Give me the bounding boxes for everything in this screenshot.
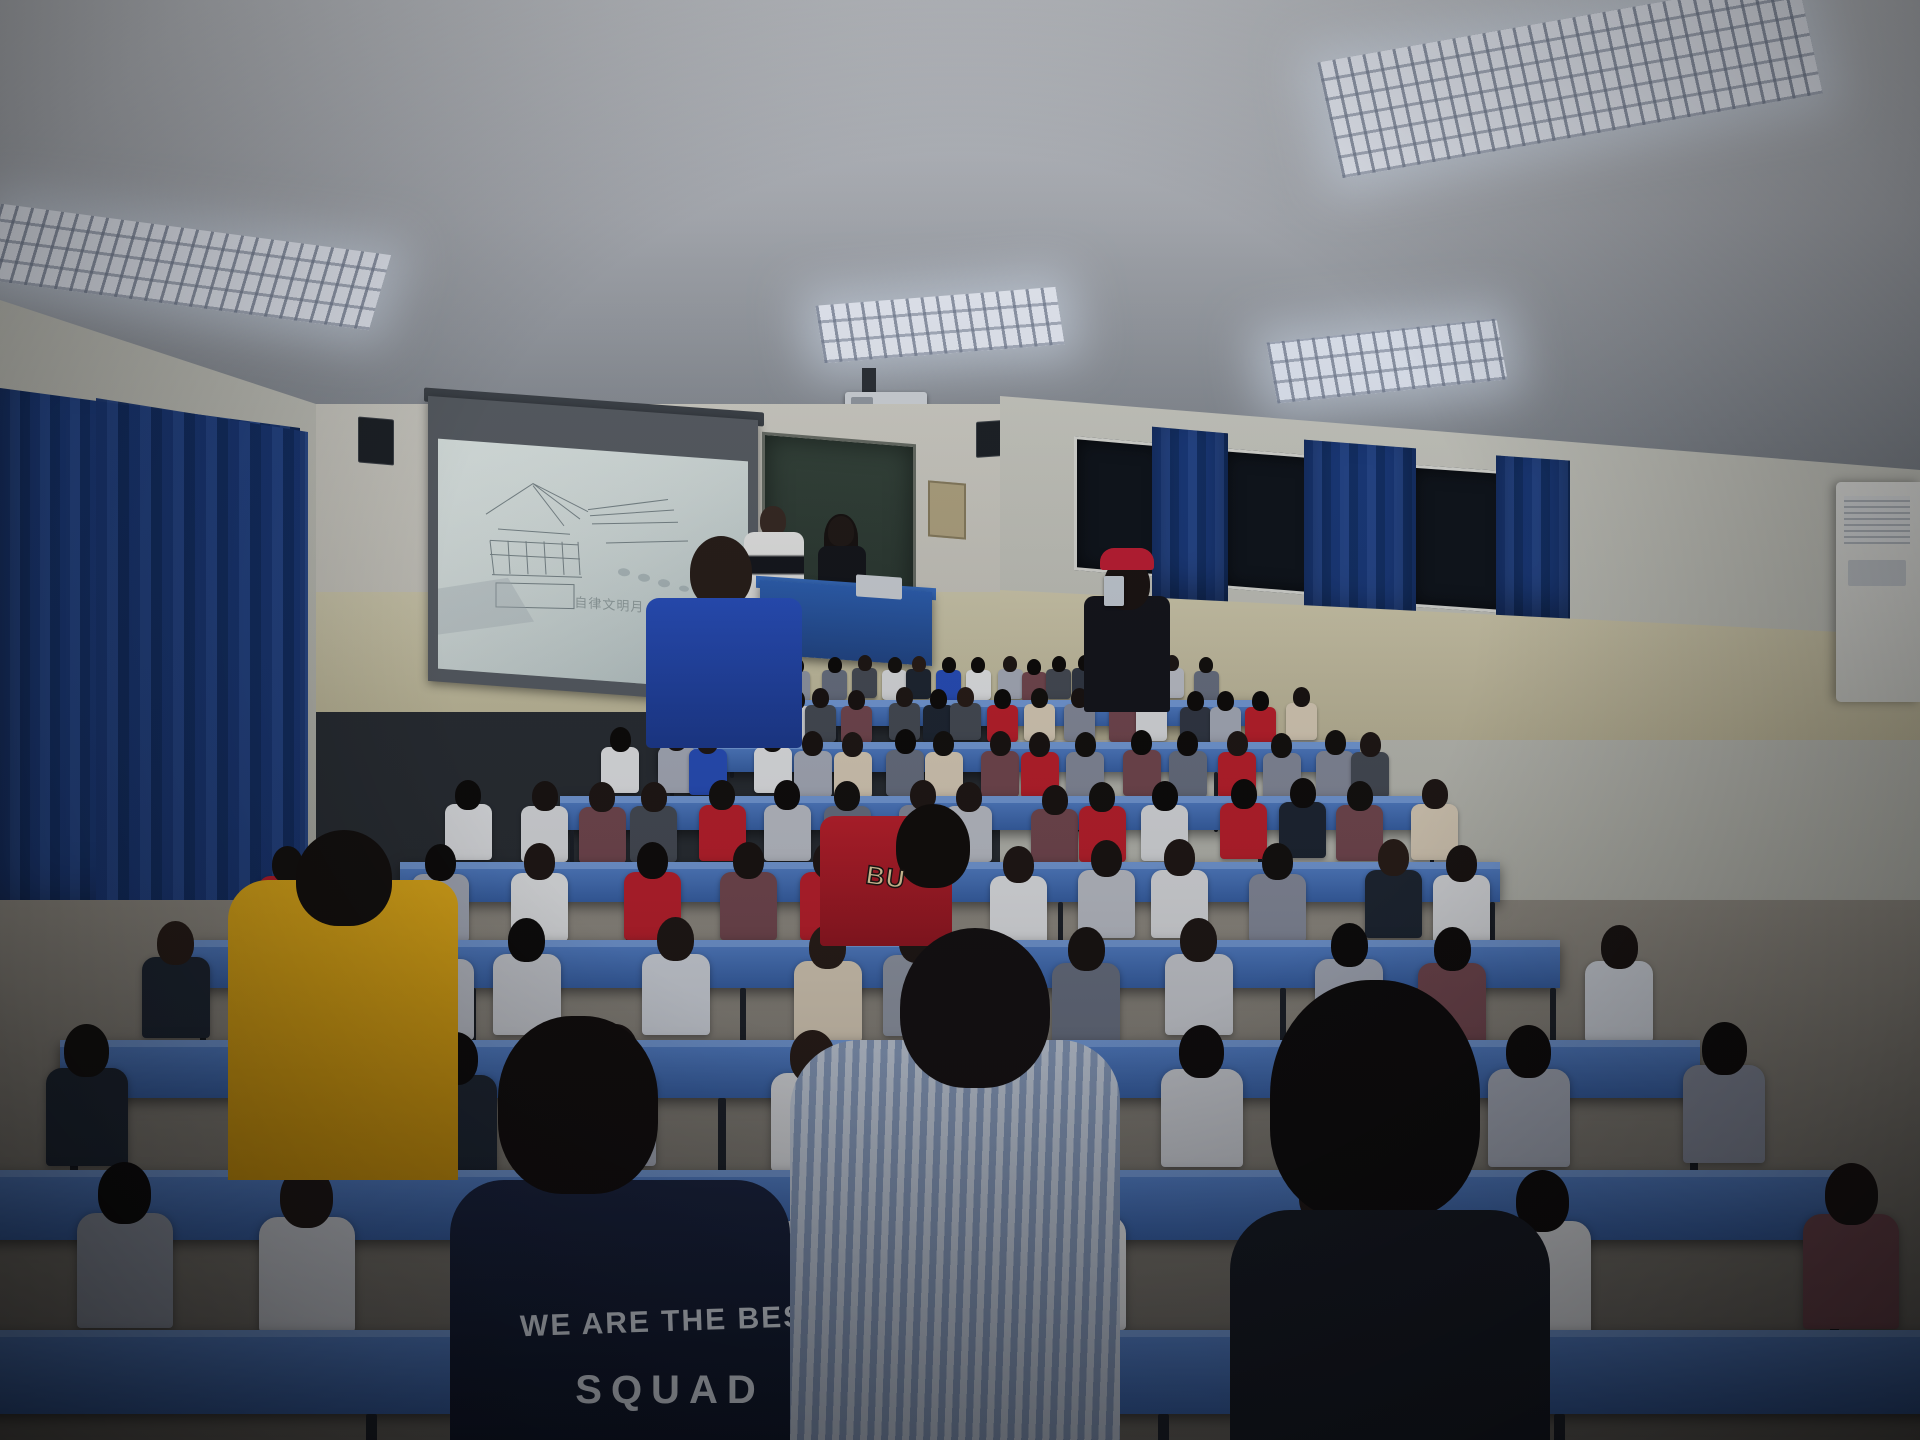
audience-member-head — [942, 657, 956, 673]
audience-member-body — [259, 1217, 355, 1332]
standing-student-blue-tee — [646, 598, 802, 748]
audience-member-head — [733, 842, 764, 879]
audience-member-head — [98, 1162, 151, 1224]
audience-member-head — [956, 782, 982, 812]
audience-member-head — [1331, 923, 1368, 967]
audience-member-head — [641, 782, 667, 812]
audience-member-head — [455, 780, 481, 810]
audience-member-body — [1286, 703, 1317, 740]
audience-member-head — [157, 921, 194, 965]
right-wall-curtain-1 — [1152, 427, 1228, 612]
audience-member-body — [46, 1068, 128, 1166]
audience-member-head — [1231, 779, 1257, 809]
audience-member-head — [930, 689, 947, 709]
audience-member-body — [642, 954, 710, 1035]
audience-member-head — [895, 729, 916, 754]
audience-member-head — [1031, 688, 1048, 708]
audience-member-head — [1702, 1022, 1747, 1075]
audience-member-head — [637, 842, 668, 879]
audience-member-head — [912, 656, 926, 672]
student-red-cap-photographer-body — [1084, 596, 1170, 712]
audience-member-body — [950, 703, 981, 740]
audience-member-head — [1271, 733, 1292, 758]
audience-member-head — [1177, 731, 1198, 756]
audience-member-body — [1245, 707, 1276, 744]
audience-member-body — [1585, 961, 1653, 1042]
audience-member-head — [1434, 927, 1471, 971]
right-wall-curtain-3 — [1496, 455, 1570, 626]
audience-member-body — [77, 1213, 173, 1328]
audience-member-body — [142, 957, 210, 1038]
lectern-paper — [856, 574, 902, 599]
audience-member-head — [834, 781, 860, 811]
audience-member-head — [957, 687, 974, 707]
audience-member-head — [896, 687, 913, 707]
audience-member-body — [1803, 1214, 1899, 1329]
audience-member-body — [764, 805, 811, 861]
audience-member-head — [1179, 1025, 1224, 1078]
wall-speaker-left — [358, 416, 394, 465]
audience-member-head — [971, 657, 985, 673]
audience-member-head — [1217, 691, 1234, 711]
audience-member-body — [1161, 1069, 1243, 1167]
audience-member-head — [508, 918, 545, 962]
audience-member-head — [848, 690, 865, 710]
audience-member-body — [1336, 805, 1383, 861]
audience-member-head — [1360, 732, 1381, 757]
audience-member-head — [1003, 656, 1017, 672]
red-cap-icon — [1100, 548, 1154, 570]
desk-leg — [366, 1414, 377, 1440]
audience-member-head — [1187, 691, 1204, 711]
audience-member-head — [1091, 840, 1122, 877]
audience-member-body — [1365, 870, 1422, 938]
audience-member-body — [794, 961, 862, 1042]
audience-member-head — [1152, 781, 1178, 811]
audience-member-body — [1249, 874, 1306, 942]
audience-member-body — [720, 872, 777, 940]
audience-member-head — [1227, 731, 1248, 756]
audience-member-head — [1825, 1163, 1878, 1225]
foreground-student-right-body — [1230, 1210, 1550, 1440]
audience-member-head — [802, 731, 823, 756]
audience-member-head — [1075, 732, 1096, 757]
audience-member-head — [828, 657, 842, 673]
audience-member-head — [858, 655, 872, 671]
desk-leg — [1554, 1414, 1565, 1440]
audience-member-head — [1293, 687, 1310, 707]
desk-leg — [1158, 1414, 1169, 1440]
audience-member-body — [1052, 963, 1120, 1044]
student-red-jersey-head — [896, 804, 970, 888]
audience-member-head — [1378, 839, 1409, 876]
audience-member-head — [1027, 659, 1041, 675]
audience-member-head — [1290, 778, 1316, 808]
audience-member-head — [1601, 925, 1638, 969]
audience-member-head — [64, 1024, 109, 1077]
window-3 — [1410, 465, 1510, 614]
audience-member-head — [709, 780, 735, 810]
audience-member-head — [524, 843, 555, 880]
presenter-dark-jacket-head — [828, 516, 854, 546]
audience-member-head — [610, 727, 631, 752]
audience-member-head — [1252, 691, 1269, 711]
audience-member-body — [1046, 669, 1071, 699]
audience-member-head — [1052, 656, 1066, 672]
audience-member-head — [532, 781, 558, 811]
audience-member-head — [1089, 782, 1115, 812]
student-striped-shirt-head — [900, 928, 1050, 1088]
audience-member-head — [1131, 730, 1152, 755]
lecture-hall-photo: 自律文明月 BU WE ARE THE BES — [0, 0, 1920, 1440]
student-striped-shirt — [790, 1040, 1120, 1440]
audience-member-head — [842, 732, 863, 757]
audience-member-head — [812, 688, 829, 708]
air-conditioner-unit — [1836, 482, 1920, 702]
audience-member-body — [1220, 803, 1267, 859]
audience-member-head — [1068, 927, 1105, 971]
audience-member-head — [1042, 785, 1068, 815]
audience-member-head — [1003, 846, 1034, 883]
right-wall-curtain-2 — [1304, 440, 1416, 635]
audience-member-head — [1180, 918, 1217, 962]
audience-member-head — [933, 731, 954, 756]
audience-member-body — [1683, 1065, 1765, 1163]
foreground-student-right-head — [1270, 980, 1480, 1220]
audience-member-head — [1262, 843, 1293, 880]
audience-member-head — [1325, 730, 1346, 755]
projector-mount — [862, 368, 876, 394]
audience-member-head — [888, 657, 902, 673]
audience-member-head — [425, 844, 456, 881]
squad-tee-text-bottom: SQUAD — [560, 1368, 780, 1413]
audience-member-head — [1029, 732, 1050, 757]
audience-member-head — [990, 731, 1011, 756]
audience-member-head — [1506, 1025, 1551, 1078]
notice-board — [928, 480, 966, 539]
audience-member-head — [1446, 845, 1477, 882]
student-yellow-hoodie-head — [296, 830, 392, 926]
raised-phone — [1104, 576, 1124, 606]
audience-member-head — [589, 782, 615, 812]
audience-member-head — [994, 689, 1011, 709]
audience-member-head — [1422, 779, 1448, 809]
student-squad-tee-head — [498, 1016, 658, 1194]
audience-member-head — [657, 917, 694, 961]
jersey-text: BU — [864, 859, 907, 895]
audience-member-head — [1164, 839, 1195, 876]
audience-member-body — [1165, 954, 1233, 1035]
audience-member-head — [774, 780, 800, 810]
audience-member-head — [1347, 781, 1373, 811]
audience-member-body — [1031, 809, 1078, 865]
audience-member-body — [579, 807, 626, 863]
audience-member-body — [981, 751, 1019, 797]
audience-member-body — [1488, 1069, 1570, 1167]
